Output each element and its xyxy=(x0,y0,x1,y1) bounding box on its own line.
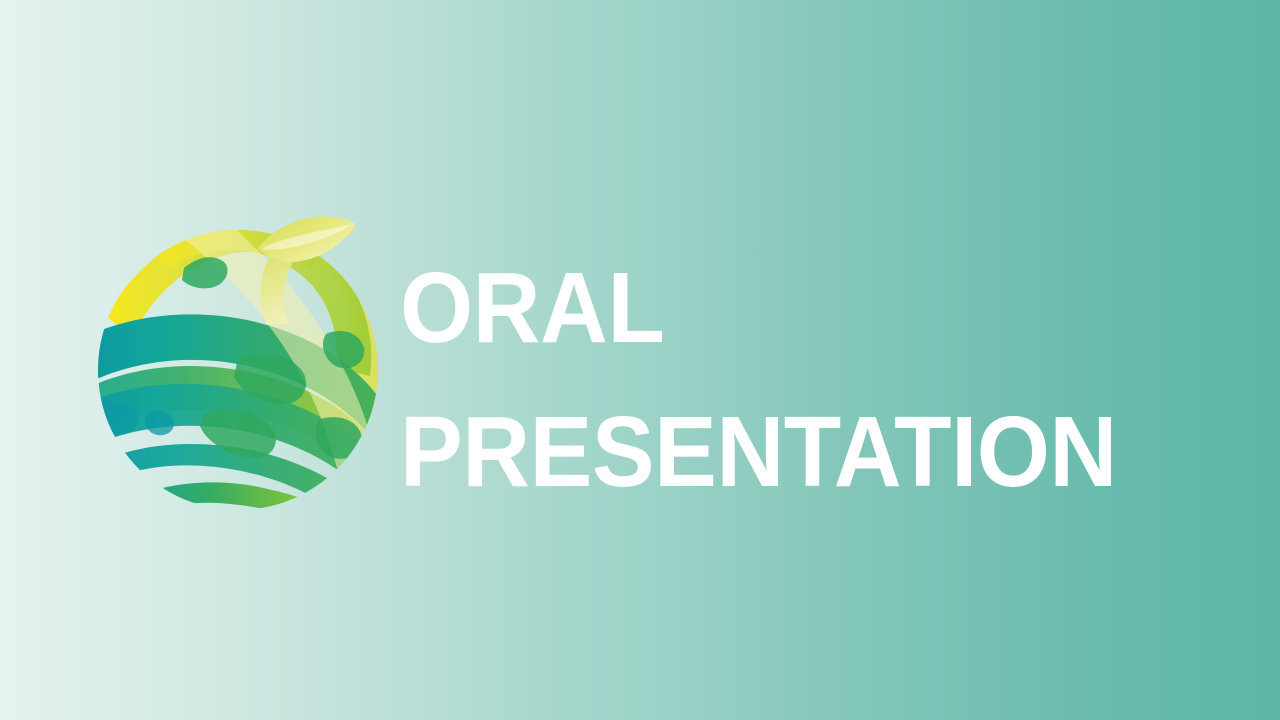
title-line-1: ORAL xyxy=(400,236,1171,380)
globe-bands xyxy=(88,198,388,522)
globe-leaf-logo xyxy=(88,198,388,522)
title-block: ORAL PRESENTATION xyxy=(400,236,1220,524)
title-slide: ORAL PRESENTATION xyxy=(0,0,1280,720)
title-line-2: PRESENTATION xyxy=(400,380,1171,524)
